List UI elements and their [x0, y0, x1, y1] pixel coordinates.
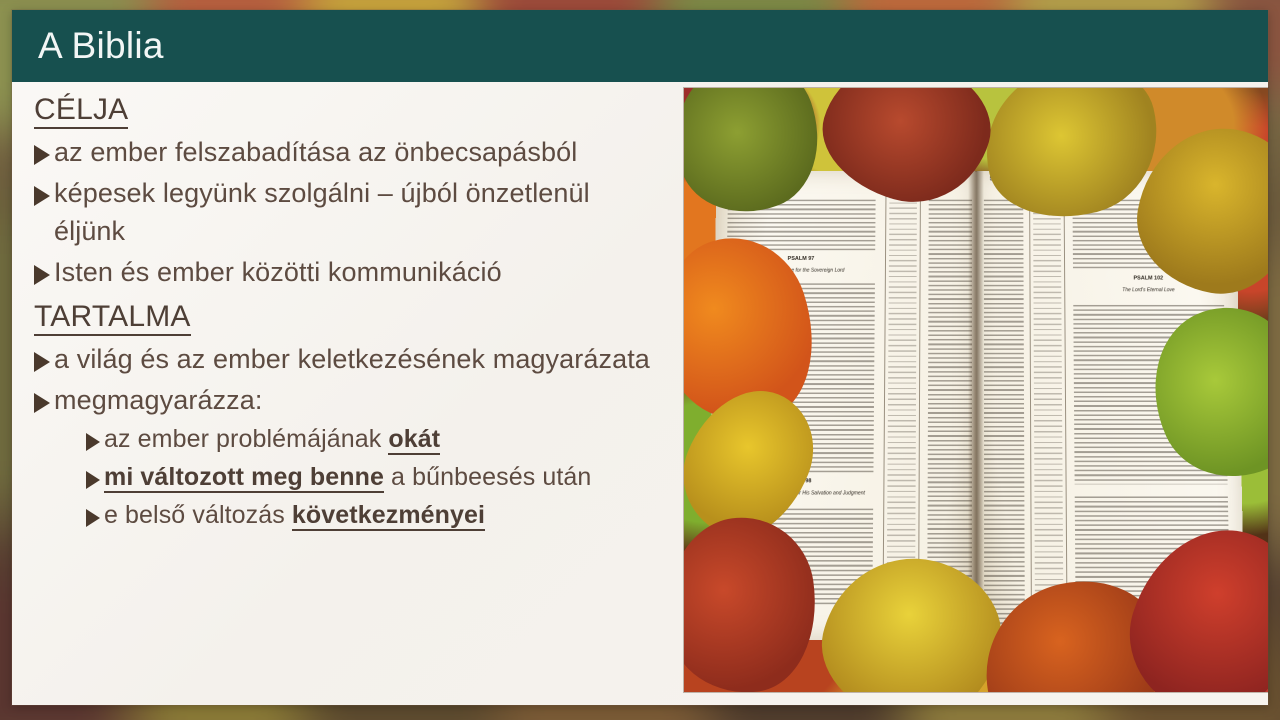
triangle-bullet-icon: [86, 471, 100, 489]
title-banner: A Biblia: [12, 10, 1268, 82]
bullet-text: Isten és ember közötti kommunikáció: [54, 253, 664, 291]
bullet-text: az ember felszabadítása az önbecsapásból: [54, 133, 664, 171]
cross-ref-lines: [1033, 192, 1063, 627]
content-column: CÉLJA az ember felszabadítása az önbecsa…: [34, 90, 664, 535]
sub-bullet-text-plain: az ember problémájának: [104, 425, 388, 453]
bullet-item: képesek legyünk szolgálni – újból önzetl…: [34, 174, 664, 250]
triangle-bullet-icon: [34, 352, 50, 372]
triangle-bullet-icon: [86, 509, 100, 527]
sub-bullet-item: e belső változás következményei: [86, 498, 664, 533]
section-heading-tartalma: TARTALMA: [34, 297, 664, 337]
sub-bullet-text: e belső változás következményei: [104, 498, 664, 533]
sub-bullet-text: mi változott meg benne a bűnbeesés után: [104, 460, 664, 495]
sub-bullet-text-plain: a bűnbeesés után: [384, 463, 591, 491]
verse-lines: [984, 200, 1025, 628]
bullet-item: Isten és ember közötti kommunikáció: [34, 253, 664, 291]
bullet-item: a világ és az ember keletkezésének magya…: [34, 340, 664, 378]
triangle-bullet-icon: [34, 186, 50, 206]
sub-bullet-text-plain: e belső változás: [104, 501, 292, 529]
triangle-bullet-icon: [34, 145, 50, 165]
sub-bullet-item: mi változott meg benne a bűnbeesés után: [86, 460, 664, 495]
bible-gutter-shadow: [968, 171, 984, 640]
section-heading-tartalma-text: TARTALMA: [34, 300, 191, 336]
bullet-item: megmagyarázza:: [34, 381, 664, 419]
bullet-item: az ember felszabadítása az önbecsapásból: [34, 133, 664, 171]
triangle-bullet-icon: [34, 393, 50, 413]
sub-bullet-item: az ember problémájának okát: [86, 422, 664, 457]
bullet-text: a világ és az ember keletkezésének magya…: [54, 340, 664, 378]
triangle-bullet-icon: [34, 265, 50, 285]
section-heading-celja-text: CÉLJA: [34, 93, 128, 129]
bullet-text: megmagyarázza:: [54, 381, 664, 419]
bullet-text: képesek legyünk szolgálni – újból önzetl…: [54, 174, 664, 250]
sub-bullet-text-emphasis: mi változott meg benne: [104, 463, 384, 493]
slide-stage: A Biblia CÉLJA az ember felszabadítása a…: [0, 0, 1280, 720]
triangle-bullet-icon: [86, 433, 100, 451]
sub-bullet-text-emphasis: okát: [388, 425, 440, 455]
sub-bullet-text-emphasis: következményei: [292, 501, 485, 531]
page-title: A Biblia: [38, 22, 164, 70]
sub-bullet-text: az ember problémájának okát: [104, 422, 664, 457]
bible-autumn-photo: PSALM 96:13 526 PSALM 97 A Song of Prais…: [684, 88, 1268, 692]
section-heading-celja: CÉLJA: [34, 90, 664, 130]
right-cross-reference-column: [1029, 188, 1068, 631]
